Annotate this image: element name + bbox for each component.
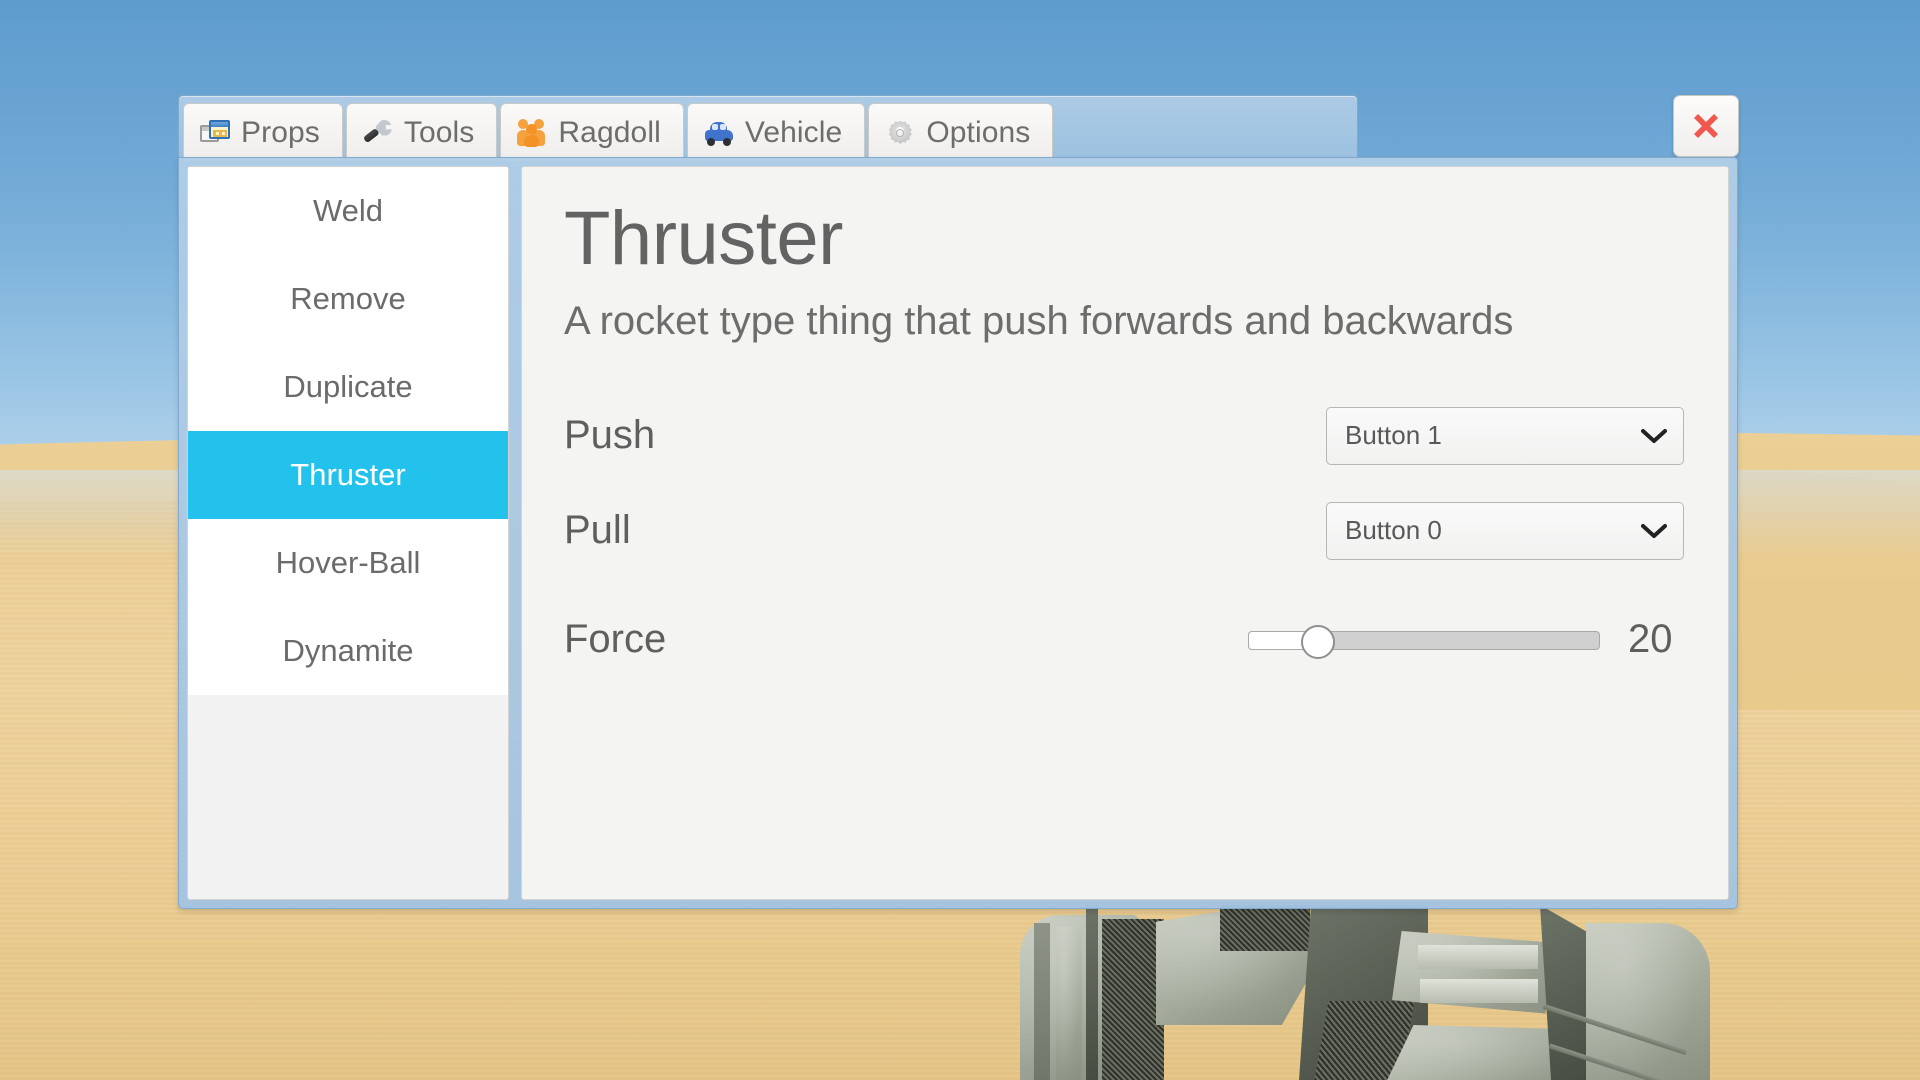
gear-icon xyxy=(885,118,915,148)
chevron-down-icon xyxy=(1641,523,1667,539)
sidebar-item-dynamite[interactable]: Dynamite xyxy=(188,607,508,695)
setting-label: Pull xyxy=(564,508,631,553)
close-button[interactable] xyxy=(1673,95,1739,157)
sidebar-item-remove[interactable]: Remove xyxy=(188,255,508,343)
sidebar-item-label: Thruster xyxy=(290,457,405,493)
chevron-down-icon xyxy=(1641,428,1667,444)
tab-label: Options xyxy=(926,116,1030,150)
sidebar-item-duplicate[interactable]: Duplicate xyxy=(188,343,508,431)
tab-ragdoll[interactable]: Ragdoll xyxy=(500,103,683,161)
sidebar-item-label: Hover-Ball xyxy=(276,545,421,581)
sidebar-item-thruster[interactable]: Thruster xyxy=(188,431,508,519)
sidebar-item-weld[interactable]: Weld xyxy=(188,167,508,255)
setting-row-force: Force 20 xyxy=(564,592,1684,687)
menu-body: Weld Remove Duplicate Thruster Hover-Bal… xyxy=(178,157,1738,909)
tool-list-sidebar[interactable]: Weld Remove Duplicate Thruster Hover-Bal… xyxy=(187,166,509,900)
tab-tools[interactable]: Tools xyxy=(346,103,498,161)
setting-row-pull: Pull Button 0 xyxy=(564,483,1684,578)
wrench-icon xyxy=(363,118,393,148)
car-icon xyxy=(704,118,734,148)
tool-settings-panel: Thruster A rocket type thing that push f… xyxy=(521,166,1729,900)
tab-vehicle[interactable]: Vehicle xyxy=(687,103,865,161)
close-x-icon xyxy=(1687,107,1725,145)
metal-prop-model xyxy=(1020,905,1710,1080)
slider-thumb[interactable] xyxy=(1301,625,1335,659)
force-slider[interactable] xyxy=(1248,627,1600,653)
tab-label: Ragdoll xyxy=(558,116,660,150)
sidebar-item-label: Dynamite xyxy=(283,633,414,669)
sidebar-item-label: Remove xyxy=(290,281,405,317)
people-icon xyxy=(517,118,547,148)
setting-label: Push xyxy=(564,413,655,458)
sidebar-item-label: Weld xyxy=(313,193,383,229)
props-window-icon xyxy=(200,118,230,148)
setting-label: Force xyxy=(564,617,666,662)
sidebar-item-label: Duplicate xyxy=(283,369,412,405)
tab-label: Tools xyxy=(404,116,475,150)
sidebar-item-hover-ball[interactable]: Hover-Ball xyxy=(188,519,508,607)
dropdown-value: Button 1 xyxy=(1345,420,1442,451)
spawnmenu-window: Props Tools Ragdoll Vehicle xyxy=(178,95,1738,910)
dropdown-value: Button 0 xyxy=(1345,515,1442,546)
tab-options[interactable]: Options xyxy=(868,103,1053,161)
force-value: 20 xyxy=(1628,617,1684,662)
page-description: A rocket type thing that push forwards a… xyxy=(564,299,1684,344)
setting-row-push: Push Button 1 xyxy=(564,388,1684,483)
tab-label: Props xyxy=(241,116,320,150)
settings-rows: Push Button 1 Pull Butto xyxy=(564,388,1684,687)
tab-label: Vehicle xyxy=(745,116,842,150)
page-title: Thruster xyxy=(564,201,1684,277)
tab-props[interactable]: Props xyxy=(183,103,343,161)
pull-binding-dropdown[interactable]: Button 0 xyxy=(1326,502,1684,560)
tab-bar: Props Tools Ragdoll Vehicle xyxy=(178,95,1358,161)
push-binding-dropdown[interactable]: Button 1 xyxy=(1326,407,1684,465)
